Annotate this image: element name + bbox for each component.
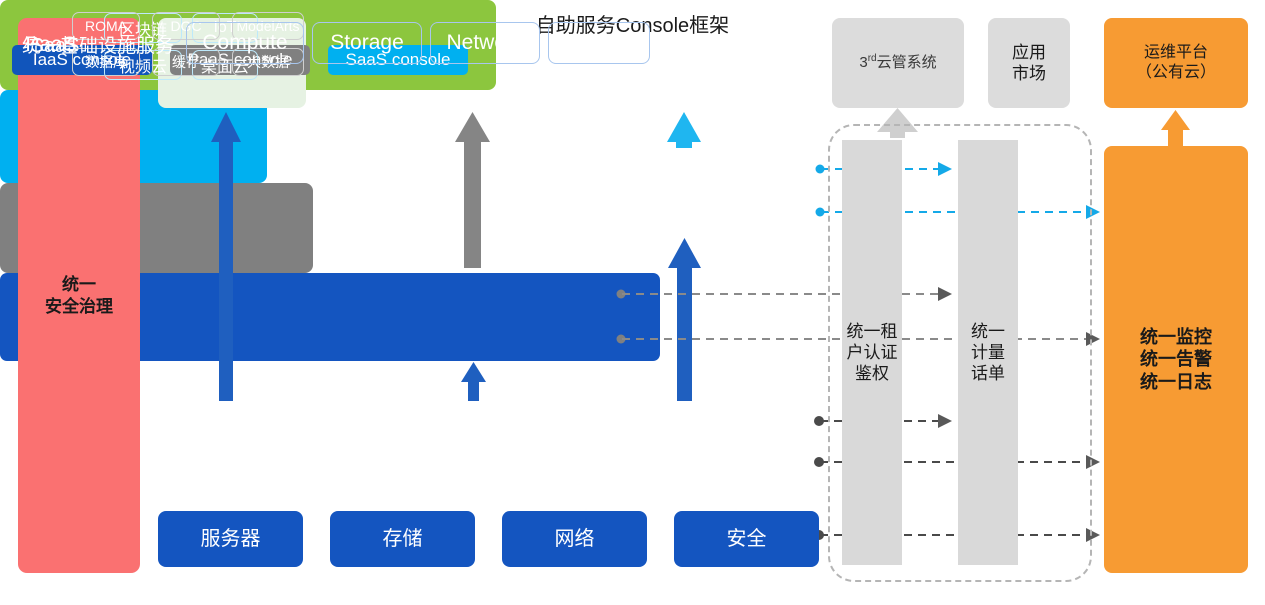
shared-column-metering-label: 统一 计量 话单 [971,321,1005,385]
shared-column-tenant-auth[interactable]: 统一租 户认证 鉴权 [842,140,902,565]
arrow-infra-to-paas [461,362,486,401]
third-party-cloud-mgmt-box[interactable]: 3rd云管系统 [832,18,964,108]
security-governance-label: 统一 安全治理 [45,274,113,317]
ops-platform-public-cloud-box[interactable]: 运维平台 （公有云） [1104,18,1248,108]
infra-chip-compute-label: Compute [202,31,287,55]
shared-column-tenant-auth-label: 统一租 户认证 鉴权 [847,321,898,385]
infra-chip-cce-label: CCE [577,31,621,55]
resource-box-storage-label: 存储 [383,527,423,552]
security-governance-column[interactable]: 统一 安全治理 [18,18,140,573]
infra-chip-storage[interactable]: Storage [312,22,422,64]
infra-chip-cce[interactable]: CCE [548,22,650,64]
arrow-infra-to-saas [668,238,701,401]
shared-column-metering[interactable]: 统一 计量 话单 [958,140,1018,565]
infra-chip-compute[interactable]: Compute [186,22,304,64]
resource-box-storage[interactable]: 存储 [330,511,475,567]
unified-infrastructure-label: 统一基础设施服务 [12,0,184,88]
third-party-cloud-mgmt-label: 3rd云管系统 [859,53,936,73]
resource-box-security-label: 安全 [727,527,767,552]
infra-chip-network[interactable]: Network [430,22,540,64]
resource-box-security[interactable]: 安全 [674,511,819,567]
infra-chip-storage-label: Storage [330,31,404,55]
arrow-paas-to-console [455,112,490,268]
resource-box-network-label: 网络 [555,527,595,552]
resource-box-server[interactable]: 服务器 [158,511,303,567]
app-market-box[interactable]: 应用 市场 [988,18,1070,108]
app-market-label: 应用 市场 [1012,42,1046,85]
infra-chip-network-label: Network [446,31,523,55]
ops-monitoring-column[interactable]: 统一监控 统一告警 统一日志 [1104,146,1248,573]
arrow-ops-col-to-ops-top [1161,110,1190,146]
resource-box-server-label: 服务器 [201,527,261,552]
ops-platform-public-cloud-label: 运维平台 （公有云） [1136,43,1216,83]
architecture-diagram: 统一 安全治理 API网关 自助服务Console框架 IaaS console… [0,0,1265,605]
arrow-saas-to-console [667,112,701,148]
ops-monitoring-column-label: 统一监控 统一告警 统一日志 [1140,326,1212,394]
resource-box-network[interactable]: 网络 [502,511,647,567]
